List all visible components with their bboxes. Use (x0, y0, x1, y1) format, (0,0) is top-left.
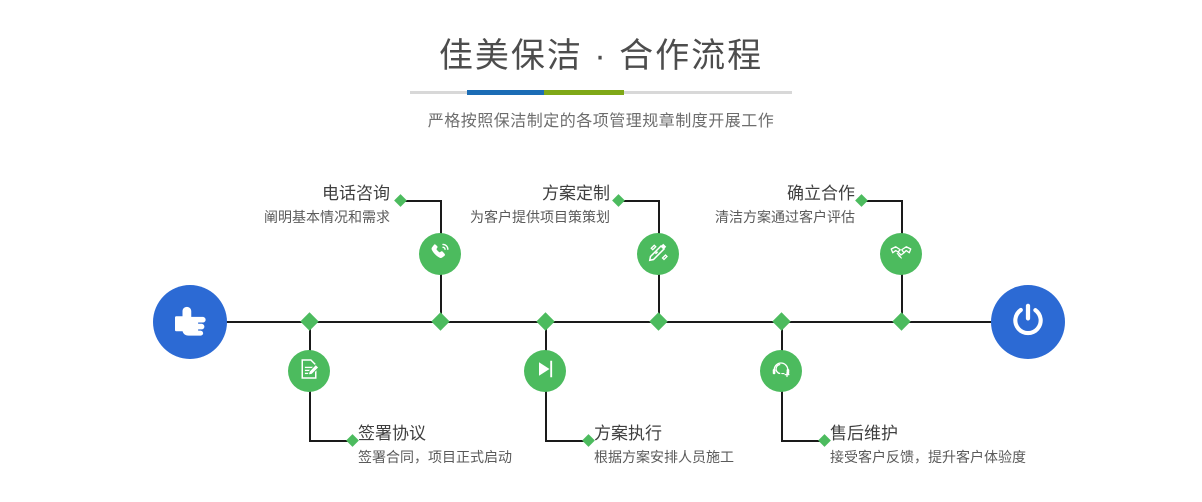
step-label-5: 确立合作 清洁方案通过客户评估 (565, 182, 855, 228)
power-button-icon (1008, 300, 1048, 345)
timeline-marker-6 (772, 312, 790, 330)
page-title: 佳美保洁 · 合作流程 (0, 34, 1202, 78)
pointing-hand-icon (170, 300, 210, 345)
step-icon-circle-5[interactable] (880, 233, 922, 275)
step-icon-circle-4[interactable] (524, 350, 566, 392)
pencil-ruler-icon (646, 240, 670, 269)
play-execute-icon (533, 357, 557, 386)
timeline-marker-3 (649, 312, 667, 330)
document-pencil-icon (297, 357, 321, 386)
title-divider (410, 91, 792, 94)
step-title-6: 售后维护 (830, 422, 1170, 445)
step-label-6: 售后维护 接受客户反馈，提升客户体验度 (830, 422, 1170, 468)
customer-service-icon (769, 357, 793, 386)
step-icon-circle-3[interactable] (637, 233, 679, 275)
label-marker-5 (855, 194, 868, 207)
flow-end-node[interactable] (991, 285, 1065, 359)
timeline-marker-1 (431, 312, 449, 330)
step-icon-circle-6[interactable] (760, 350, 802, 392)
step-desc-6: 接受客户反馈，提升客户体验度 (830, 447, 1170, 468)
step-icon-circle-2[interactable] (288, 350, 330, 392)
timeline-marker-5 (892, 312, 910, 330)
phone-call-icon (428, 240, 452, 269)
process-flow-diagram: 电话咨询 阐明基本情况和需求 签署协议 签署合同，项目正式启动 (0, 150, 1202, 502)
step-title-5: 确立合作 (565, 182, 855, 205)
divider-green-segment (544, 90, 624, 95)
flow-start-node[interactable] (153, 285, 227, 359)
timeline-marker-4 (536, 312, 554, 330)
page-header: 佳美保洁 · 合作流程 严格按照保洁制定的各项管理规章制度开展工作 (0, 0, 1202, 131)
timeline-marker-2 (300, 312, 318, 330)
handshake-icon (889, 240, 913, 269)
step-icon-circle-1[interactable] (419, 233, 461, 275)
step-desc-5: 清洁方案通过客户评估 (565, 207, 855, 228)
divider-blue-segment (467, 90, 544, 95)
page-subtitle: 严格按照保洁制定的各项管理规章制度开展工作 (0, 107, 1202, 131)
label-marker-2 (346, 434, 359, 447)
